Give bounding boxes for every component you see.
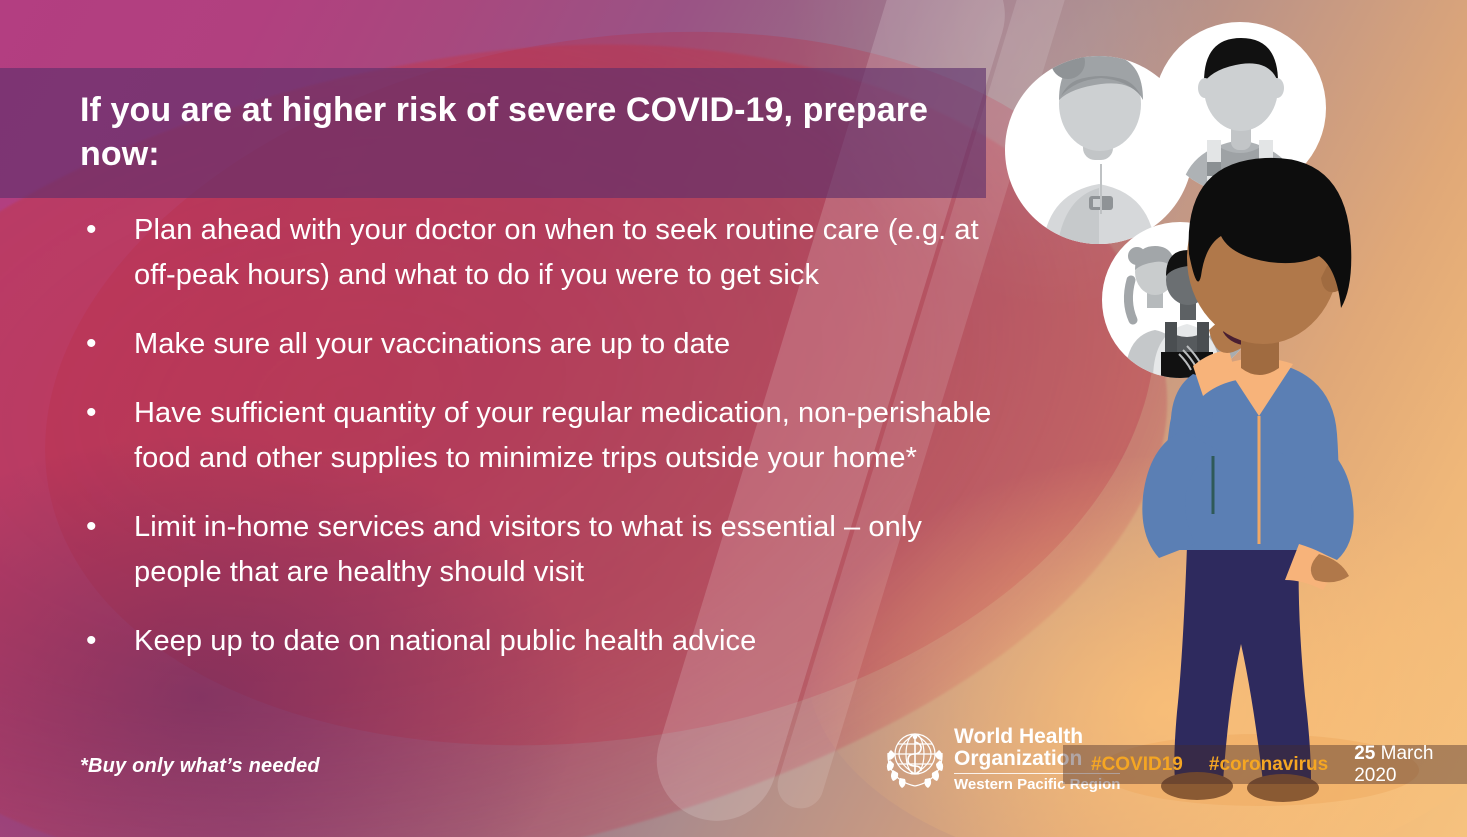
publish-date-day: 25 <box>1354 743 1375 764</box>
bullet-marker: • <box>78 322 134 367</box>
hashtag-coronavirus[interactable]: #coronavirus <box>1209 754 1328 776</box>
infographic-slide: If you are at higher risk of severe COVI… <box>0 0 1467 837</box>
advice-list: • Plan ahead with your doctor on when to… <box>78 208 998 688</box>
bullet-text: Have sufficient quantity of your regular… <box>134 391 998 481</box>
publish-date: 25 March 2020 <box>1354 743 1467 787</box>
hand-right <box>1311 554 1349 582</box>
bullet-marker: • <box>78 505 134 595</box>
bullet-marker: • <box>78 619 134 664</box>
title-banner: If you are at higher risk of severe COVI… <box>0 68 986 198</box>
page-title: If you are at higher risk of severe COVI… <box>0 89 986 176</box>
bullet-text: Limit in-home services and visitors to w… <box>134 505 998 595</box>
bullet-text: Plan ahead with your doctor on when to s… <box>134 208 998 298</box>
list-item: • Have sufficient quantity of your regul… <box>78 391 998 481</box>
list-item: • Make sure all your vaccinations are up… <box>78 322 998 367</box>
bullet-text: Keep up to date on national public healt… <box>134 619 998 664</box>
hashtag-bar: #COVID19 #coronavirus 25 March 2020 <box>1063 745 1467 784</box>
list-item: • Keep up to date on national public hea… <box>78 619 998 664</box>
hashtag-covid19[interactable]: #COVID19 <box>1091 754 1183 776</box>
bullet-marker: • <box>78 208 134 298</box>
who-emblem-icon <box>884 728 946 790</box>
bullet-marker: • <box>78 391 134 481</box>
illustration-man-on-phone <box>997 0 1467 837</box>
list-item: • Limit in-home services and visitors to… <box>78 505 998 595</box>
footnote: *Buy only what’s needed <box>80 755 320 778</box>
list-item: • Plan ahead with your doctor on when to… <box>78 208 998 298</box>
bullet-text: Make sure all your vaccinations are up t… <box>134 322 998 367</box>
